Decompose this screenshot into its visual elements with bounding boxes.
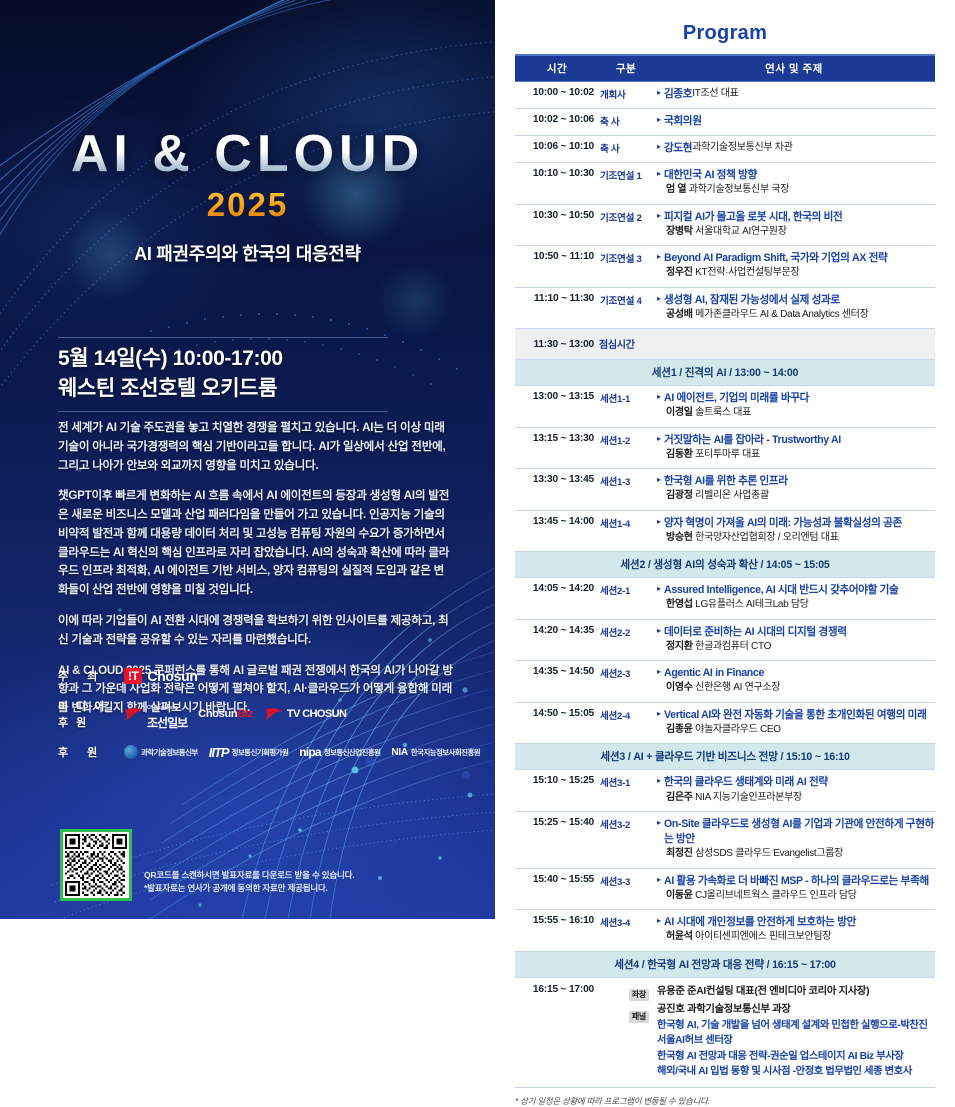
program-row: 13:45 ~ 14:00세션1-4▸양자 혁명이 가져올 AI의 미래: 가능… bbox=[515, 510, 935, 552]
program-row: 14:35 ~ 14:50세션2-3▸Agentic AI in Finance… bbox=[515, 661, 935, 703]
row-topic: 국회의원 bbox=[664, 114, 702, 129]
row-topic: On-Site 클라우드로 생성형 AI를 기업과 기관에 안전하게 구현하는 … bbox=[664, 817, 935, 847]
event-title: AI & CLOUD bbox=[0, 128, 495, 180]
row-speaker-name: 방승현 bbox=[666, 532, 693, 543]
program-row: 14:05 ~ 14:20세션2-1▸Assured Intelligence,… bbox=[515, 578, 935, 620]
bullet-icon: ▸ bbox=[657, 391, 661, 403]
program-table: 시간 구분 연사 및 주제 10:00 ~ 10:02개회사▸김종호 IT조선 … bbox=[515, 54, 935, 1088]
bullet-icon: ▸ bbox=[657, 168, 661, 180]
poster-title-block: AI & CLOUD 2025 AI 패권주의와 한국의 대응전략 bbox=[0, 128, 495, 266]
row-speaker-name: 김종윤 bbox=[666, 724, 693, 735]
row-speaker: 엄 열 과학기술정보통신부 국장 bbox=[657, 183, 935, 198]
row-time: 13:30 ~ 13:45 bbox=[515, 469, 599, 511]
tv-chosun-name: TV CHOSUN bbox=[287, 708, 346, 720]
row-speaker: 이경일 솔트룩스 대표 bbox=[657, 406, 935, 421]
session-banner-label: 세션3 / AI + 클라우드 기반 비즈니스 전망 / 15:10 ~ 16:… bbox=[515, 744, 935, 770]
row-topic: AI 시대에 개인정보를 안전하게 보호하는 방안 bbox=[664, 915, 856, 930]
bullet-icon: ▸ bbox=[657, 915, 661, 927]
intro-paragraph: 챗GPT이후 빠르게 변화하는 AI 흐름 속에서 AI 에이전트의 등장과 생… bbox=[58, 487, 453, 600]
row-time: 13:00 ~ 13:15 bbox=[515, 386, 599, 428]
row-time: 14:35 ~ 14:50 bbox=[515, 661, 599, 703]
program-footnote: * 상기 일정은 상황에 따라 프로그램이 변동될 수 있습니다. bbox=[515, 1088, 935, 1107]
row-topic-line: ▸한국의 클라우드 생태계와 미래 AI 전략 bbox=[657, 775, 935, 790]
program-row: 15:55 ~ 16:10세션3-4▸AI 시대에 개인정보를 안전하게 보호하… bbox=[515, 910, 935, 952]
lunch-label: 점심시간 bbox=[599, 329, 935, 360]
row-topic-line: ▸한국형 AI를 위한 추론 인프라 bbox=[657, 474, 935, 489]
row-category: 세션3-2 bbox=[599, 812, 653, 869]
panel-content: 유용준 준AI컨설팅 대표(전 엔비디아 코리아 지사장)공진호 과학기술정보통… bbox=[653, 977, 935, 1087]
nia-name: 한국지능정보사회진흥원 bbox=[411, 747, 480, 758]
row-topic: 강도현 bbox=[664, 141, 692, 156]
program-row: 10:10 ~ 10:30기조연설 1▸대한민국 AI 정책 방향엄 열 과학기… bbox=[515, 163, 935, 205]
program-row: 10:02 ~ 10:06축 사▸국회의원 bbox=[515, 109, 935, 136]
row-speaker-name: 공성배 bbox=[666, 309, 693, 320]
poster-page: AI & CLOUD 2025 AI 패권주의와 한국의 대응전략 5월 14일… bbox=[0, 0, 955, 919]
logo-chosun-ilbo: ChosunMedia 조선일보 bbox=[124, 696, 187, 732]
iitp-name: 정보통신기획평가원 bbox=[232, 747, 289, 758]
bullet-icon: ▸ bbox=[657, 114, 661, 126]
panel-badges: 좌장패널 bbox=[599, 977, 653, 1087]
row-category: 세션2-3 bbox=[599, 661, 653, 703]
row-topic-line: ▸대한민국 AI 정책 방향 bbox=[657, 168, 935, 183]
event-year: 2025 bbox=[0, 186, 495, 224]
nia-mark: NIA bbox=[391, 747, 407, 758]
logo-it-chosun: !T Chosun bbox=[124, 668, 198, 684]
row-topic: Agentic AI in Finance bbox=[664, 666, 764, 681]
row-topic: 양자 혁명이 가져올 AI의 미래: 가능성과 불확실성의 공존 bbox=[664, 516, 902, 531]
row-topic-line: ▸강도현 과학기술정보통신부 차관 bbox=[657, 141, 935, 156]
row-topic-cell: ▸피지컬 AI가 몰고올 로봇 시대, 한국의 비전장병탁 서울대학교 AI연구… bbox=[653, 204, 935, 246]
row-topic-cell: ▸AI 활용 가속화로 더 바빠진 MSP - 하나의 클라우드로는 부족해이동… bbox=[653, 868, 935, 910]
poster-panel: AI & CLOUD 2025 AI 패권주의와 한국의 대응전략 5월 14일… bbox=[0, 0, 495, 919]
row-topic-cell: ▸거짓말하는 AI를 잡아라 - Trustworthy AI김동환 포티투마루… bbox=[653, 427, 935, 469]
row-topic: 생성형 AI, 잠재된 가능성에서 실제 성과로 bbox=[664, 293, 840, 308]
logo-nia: NIA 한국지능정보사회진흥원 bbox=[391, 747, 480, 758]
panel-chair-text: 유용준 준AI컨설팅 대표(전 엔비디아 코리아 지사장) bbox=[657, 984, 935, 999]
row-topic-cell: ▸김종호 IT조선 대표 bbox=[653, 82, 935, 109]
program-row: 10:06 ~ 10:10축 사▸강도현 과학기술정보통신부 차관 bbox=[515, 136, 935, 163]
row-topic-cell: ▸AI 에이전트, 기업의 미래를 바꾸다이경일 솔트룩스 대표 bbox=[653, 386, 935, 428]
bullet-icon: ▸ bbox=[657, 874, 661, 886]
row-topic-line: ▸Assured Intelligence, AI 시대 반드시 갖추어야할 기… bbox=[657, 583, 935, 598]
row-topic-suffix: IT조선 대표 bbox=[692, 87, 738, 102]
row-time: 10:06 ~ 10:10 bbox=[515, 136, 599, 163]
row-topic-line: ▸AI 시대에 개인정보를 안전하게 보호하는 방안 bbox=[657, 915, 935, 930]
bullet-icon: ▸ bbox=[657, 817, 661, 829]
row-topic-line: ▸On-Site 클라우드로 생성형 AI를 기업과 기관에 안전하게 구현하는… bbox=[657, 817, 935, 847]
row-topic: Vertical AI와 완전 자동화 기술을 통한 초개인화된 여행의 미래 bbox=[664, 708, 926, 723]
row-topic: 데이터로 준비하는 AI 시대의 디지털 경쟁력 bbox=[664, 625, 847, 640]
sponsor-section: 주 최 !T Chosun 미디어후원 bbox=[58, 668, 478, 772]
row-topic-cell: ▸양자 혁명이 가져올 AI의 미래: 가능성과 불확실성의 공존방승현 한국양… bbox=[653, 510, 935, 552]
row-speaker-name: 정우진 bbox=[666, 267, 693, 278]
row-time: 10:10 ~ 10:30 bbox=[515, 163, 599, 205]
row-category: 세션2-2 bbox=[599, 619, 653, 661]
row-speaker-name: 한영섭 bbox=[666, 599, 693, 610]
qr-caption-line1: QR코드를 스캔하시면 발표자료를 다운로드 받을 수 있습니다. bbox=[144, 869, 354, 882]
row-speaker-name: 김광정 bbox=[666, 490, 693, 501]
row-topic-line: ▸양자 혁명이 가져올 AI의 미래: 가능성과 불확실성의 공존 bbox=[657, 516, 935, 531]
row-category: 세션3-3 bbox=[599, 868, 653, 910]
row-category: 기조연설 3 bbox=[599, 246, 653, 288]
logo-msit: 과학기술정보통신부 bbox=[124, 745, 198, 759]
row-topic-line: ▸AI 에이전트, 기업의 미래를 바꾸다 bbox=[657, 391, 935, 406]
row-category: 개회사 bbox=[599, 82, 653, 109]
row-speaker: 김은주 NIA 지능기술인프라본부장 bbox=[657, 791, 935, 806]
row-topic-cell: ▸국회의원 bbox=[653, 109, 935, 136]
bullet-icon: ▸ bbox=[657, 666, 661, 678]
program-table-head: 시간 구분 연사 및 주제 bbox=[515, 55, 935, 82]
row-topic-cell: ▸On-Site 클라우드로 생성형 AI를 기업과 기관에 안전하게 구현하는… bbox=[653, 812, 935, 869]
row-category: 기조연설 1 bbox=[599, 163, 653, 205]
logo-iitp: IITP 정보통신기획평가원 bbox=[209, 745, 289, 760]
row-category: 세션1-2 bbox=[599, 427, 653, 469]
chosun-media-small: ChosunMedia bbox=[147, 705, 178, 711]
row-topic-cell: ▸대한민국 AI 정책 방향엄 열 과학기술정보통신부 국장 bbox=[653, 163, 935, 205]
nipa-name: 정보통신산업진흥원 bbox=[324, 747, 381, 758]
bullet-icon: ▸ bbox=[657, 87, 661, 99]
row-time: 10:50 ~ 11:10 bbox=[515, 246, 599, 288]
bullet-icon: ▸ bbox=[657, 141, 661, 153]
row-time: 15:25 ~ 15:40 bbox=[515, 812, 599, 869]
row-category: 세션1-3 bbox=[599, 469, 653, 511]
row-speaker: 김광정 리벨리온 사업총괄 bbox=[657, 489, 935, 504]
event-venue: 웨스틴 조선호텔 오키드룸 bbox=[58, 374, 388, 404]
row-topic-cell: ▸강도현 과학기술정보통신부 차관 bbox=[653, 136, 935, 163]
session-banner: 세션1 / 진격의 AI / 13:00 ~ 14:00 bbox=[515, 360, 935, 386]
row-speaker: 최정진 삼성SDS 클라우드 Evangelist그룹장 bbox=[657, 847, 935, 862]
row-speaker: 한영섭 LG유플러스 AI테크Lab 담당 bbox=[657, 598, 935, 613]
row-category: 축 사 bbox=[599, 136, 653, 163]
row-category: 기조연설 2 bbox=[599, 204, 653, 246]
program-row: 13:30 ~ 13:45세션1-3▸한국형 AI를 위한 추론 인프라김광정 … bbox=[515, 469, 935, 511]
row-speaker: 방승현 한국양자산업협회장 / 오리엔텀 대표 bbox=[657, 531, 935, 546]
row-time: 15:10 ~ 15:25 bbox=[515, 770, 599, 812]
divider-bottom bbox=[58, 411, 388, 412]
row-category: 세션3-1 bbox=[599, 770, 653, 812]
panel-badge: 패널 bbox=[629, 1011, 649, 1023]
it-chosun-mark: !T bbox=[124, 668, 142, 684]
row-time: 10:02 ~ 10:06 bbox=[515, 109, 599, 136]
row-time: 14:05 ~ 14:20 bbox=[515, 578, 599, 620]
sponsor-row-host: 주 최 !T Chosun bbox=[58, 668, 478, 684]
row-topic-cell: ▸생성형 AI, 잠재된 가능성에서 실제 성과로공성배 메가존클라우드 AI … bbox=[653, 287, 935, 329]
row-topic: 피지컬 AI가 몰고올 로봇 시대, 한국의 비전 bbox=[664, 210, 842, 225]
row-topic-cell: ▸Vertical AI와 완전 자동화 기술을 통한 초개인화된 여행의 미래… bbox=[653, 702, 935, 744]
panel-item: 한국형 AI 전망과 대응 전략-권순일 업스테이지 AI Biz 부사장 bbox=[657, 1049, 935, 1065]
session-banner-label: 세션4 / 한국형 AI 전망과 대응 전략 / 16:15 ~ 17:00 bbox=[515, 951, 935, 977]
row-speaker-name: 장병탁 bbox=[666, 226, 693, 237]
bullet-icon: ▸ bbox=[657, 474, 661, 486]
program-panel: Program 시간 구분 연사 및 주제 10:00 ~ 10:02개회사▸김… bbox=[495, 0, 955, 919]
chosun-ilbo-name: 조선일보 bbox=[147, 716, 187, 730]
chosun-swoosh-icon bbox=[124, 707, 144, 721]
row-topic: 대한민국 AI 정책 방향 bbox=[664, 168, 757, 183]
row-topic-line: ▸Beyond AI Paradigm Shift, 국가와 기업의 AX 전략 bbox=[657, 251, 935, 266]
program-row: 10:00 ~ 10:02개회사▸김종호 IT조선 대표 bbox=[515, 82, 935, 109]
row-time: 10:00 ~ 10:02 bbox=[515, 82, 599, 109]
row-topic: 김종호 bbox=[664, 87, 692, 102]
intro-paragraph: 이에 따라 기업들이 AI 전환 시대에 경쟁력을 확보하기 위한 인사이트를 … bbox=[58, 612, 453, 650]
msit-name: 과학기술정보통신부 bbox=[141, 747, 198, 758]
bullet-icon: ▸ bbox=[657, 433, 661, 445]
row-speaker-name: 이영수 bbox=[666, 682, 693, 693]
program-title: Program bbox=[515, 0, 935, 54]
row-speaker: 정지환 한글과컴퓨터 CTO bbox=[657, 640, 935, 655]
logo-chosun-biz: ChosunBiz bbox=[198, 708, 253, 720]
bullet-icon: ▸ bbox=[657, 293, 661, 305]
sponsor-label: 주 최 bbox=[58, 668, 124, 684]
row-topic-line: ▸AI 활용 가속화로 더 바빠진 MSP - 하나의 클라우드로는 부족해 bbox=[657, 874, 935, 889]
row-category: 기조연설 4 bbox=[599, 287, 653, 329]
logo-tv-chosun: TV CHOSUN bbox=[264, 707, 346, 721]
sponsor-row-media: 미디어후원 ChosunMedia 조선일보 bbox=[58, 696, 478, 732]
row-speaker: 이동윤 CJ올리브네트웍스 클라우드 인프라 담당 bbox=[657, 889, 935, 904]
row-topic: 거짓말하는 AI를 잡아라 - Trustworthy AI bbox=[664, 433, 841, 448]
program-row: 14:20 ~ 14:35세션2-2▸데이터로 준비하는 AI 시대의 디지털 … bbox=[515, 619, 935, 661]
program-row: 14:50 ~ 15:05세션2-4▸Vertical AI와 완전 자동화 기… bbox=[515, 702, 935, 744]
row-speaker: 김종윤 야놀자클라우드 CEO bbox=[657, 723, 935, 738]
row-topic-line: ▸국회의원 bbox=[657, 114, 935, 129]
row-time: 10:30 ~ 10:50 bbox=[515, 204, 599, 246]
row-topic-cell: ▸Beyond AI Paradigm Shift, 국가와 기업의 AX 전략… bbox=[653, 246, 935, 288]
qr-caption: QR코드를 스캔하시면 발표자료를 다운로드 받을 수 있습니다. *발표자료는… bbox=[144, 869, 354, 901]
sponsor-label: 후 원 bbox=[58, 744, 124, 760]
bullet-icon: ▸ bbox=[657, 625, 661, 637]
row-time: 15:40 ~ 15:55 bbox=[515, 868, 599, 910]
program-row: 10:30 ~ 10:50기조연설 2▸피지컬 AI가 몰고올 로봇 시대, 한… bbox=[515, 204, 935, 246]
row-topic: Beyond AI Paradigm Shift, 국가와 기업의 AX 전략 bbox=[664, 251, 887, 266]
row-topic: Assured Intelligence, AI 시대 반드시 갖추어야할 기술 bbox=[664, 583, 898, 598]
panel-item: 한국형 AI, 기술 개발을 넘어 생태계 설계와 민첩한 실행으로-박찬진 서… bbox=[657, 1018, 935, 1049]
row-topic-line: ▸생성형 AI, 잠재된 가능성에서 실제 성과로 bbox=[657, 293, 935, 308]
row-speaker-name: 이경일 bbox=[666, 407, 693, 418]
row-topic-line: ▸데이터로 준비하는 AI 시대의 디지털 경쟁력 bbox=[657, 625, 935, 640]
bullet-icon: ▸ bbox=[657, 708, 661, 720]
sponsor-row-support: 후 원 과학기술정보통신부 IITP 정보통신기획평가원 nipa 정보통신산업… bbox=[58, 744, 478, 760]
logo-nipa: nipa 정보통신산업진흥원 bbox=[299, 745, 380, 759]
session-banner-label: 세션1 / 진격의 AI / 13:00 ~ 14:00 bbox=[515, 360, 935, 386]
lunch-time: 11:30 ~ 13:00 bbox=[515, 329, 599, 360]
row-time: 13:45 ~ 14:00 bbox=[515, 510, 599, 552]
sponsor-label: 미디어후원 bbox=[58, 698, 124, 730]
tv-chosun-swoosh-icon bbox=[264, 707, 284, 721]
bullet-icon: ▸ bbox=[657, 251, 661, 263]
chosun-biz-name: Chosun bbox=[198, 708, 237, 720]
it-chosun-name: Chosun bbox=[147, 668, 197, 684]
program-row: 15:10 ~ 15:25세션3-1▸한국의 클라우드 생태계와 미래 AI 전… bbox=[515, 770, 935, 812]
date-venue-block: 5월 14일(수) 10:00-17:00 웨스틴 조선호텔 오키드룸 bbox=[58, 337, 388, 412]
iitp-mark: IITP bbox=[209, 745, 229, 760]
msit-emblem-icon bbox=[124, 745, 138, 759]
program-table-body: 10:00 ~ 10:02개회사▸김종호 IT조선 대표10:02 ~ 10:0… bbox=[515, 82, 935, 1088]
program-row: 13:15 ~ 13:30세션1-2▸거짓말하는 AI를 잡아라 - Trust… bbox=[515, 427, 935, 469]
row-topic-cell: ▸AI 시대에 개인정보를 안전하게 보호하는 방안허윤석 아이티센피엔에스 핀… bbox=[653, 910, 935, 952]
row-topic-suffix: 과학기술정보통신부 차관 bbox=[692, 141, 792, 156]
program-row: 15:40 ~ 15:55세션3-3▸AI 활용 가속화로 더 바빠진 MSP … bbox=[515, 868, 935, 910]
row-time: 13:15 ~ 13:30 bbox=[515, 427, 599, 469]
row-category: 축 사 bbox=[599, 109, 653, 136]
session-banner: 세션3 / AI + 클라우드 기반 비즈니스 전망 / 15:10 ~ 16:… bbox=[515, 744, 935, 770]
column-header-kind: 구분 bbox=[599, 55, 653, 82]
row-speaker-name: 김동환 bbox=[666, 449, 693, 460]
row-topic: AI 에이전트, 기업의 미래를 바꾸다 bbox=[664, 391, 809, 406]
row-topic-line: ▸거짓말하는 AI를 잡아라 - Trustworthy AI bbox=[657, 433, 935, 448]
row-speaker: 장병탁 서울대학교 AI연구원장 bbox=[657, 225, 935, 240]
row-speaker: 허윤석 아이티센피엔에스 핀테크보안팀장 bbox=[657, 930, 935, 945]
row-speaker-name: 김은주 bbox=[666, 792, 693, 803]
row-topic-line: ▸Vertical AI와 완전 자동화 기술을 통한 초개인화된 여행의 미래 bbox=[657, 708, 935, 723]
row-speaker-name: 정지환 bbox=[666, 641, 693, 652]
nipa-mark: nipa bbox=[299, 745, 320, 759]
program-row: 13:00 ~ 13:15세션1-1▸AI 에이전트, 기업의 미래를 바꾸다이… bbox=[515, 386, 935, 428]
row-topic-cell: ▸Assured Intelligence, AI 시대 반드시 갖추어야할 기… bbox=[653, 578, 935, 620]
event-date: 5월 14일(수) 10:00-17:00 bbox=[58, 344, 388, 374]
session-banner-label: 세션2 / 생성형 AI의 성숙과 확산 / 14:05 ~ 15:05 bbox=[515, 552, 935, 578]
bullet-icon: ▸ bbox=[657, 775, 661, 787]
qr-code[interactable] bbox=[60, 829, 132, 901]
panel-time: 16:15 ~ 17:00 bbox=[515, 977, 599, 1087]
row-topic: 한국의 클라우드 생태계와 미래 AI 전략 bbox=[664, 775, 828, 790]
row-category: 세션2-1 bbox=[599, 578, 653, 620]
chosun-ilbo-text: ChosunMedia 조선일보 bbox=[147, 696, 187, 732]
row-speaker-name: 이동윤 bbox=[666, 890, 693, 901]
panel-lead-text: 공진호 과학기술정보통신부 과장 bbox=[657, 1002, 935, 1017]
qr-section: QR코드를 스캔하시면 발표자료를 다운로드 받을 수 있습니다. *발표자료는… bbox=[60, 829, 354, 901]
row-time: 14:50 ~ 15:05 bbox=[515, 702, 599, 744]
chair-badge: 좌장 bbox=[629, 989, 649, 1001]
row-speaker: 공성배 메가존클라우드 AI & Data Analytics 센터장 bbox=[657, 308, 935, 323]
panel-item: 해외/국내 AI 입법 동향 및 시사점 -안정호 법무법인 세종 변호사 bbox=[657, 1064, 935, 1080]
bullet-icon: ▸ bbox=[657, 583, 661, 595]
bullet-icon: ▸ bbox=[657, 516, 661, 528]
row-category: 세션3-4 bbox=[599, 910, 653, 952]
program-row: 11:10 ~ 11:30기조연설 4▸생성형 AI, 잠재된 가능성에서 실제… bbox=[515, 287, 935, 329]
row-speaker-name: 최정진 bbox=[666, 848, 693, 859]
row-speaker-name: 허윤석 bbox=[666, 931, 693, 942]
row-category: 세션1-1 bbox=[599, 386, 653, 428]
intro-paragraph: 전 세계가 AI 기술 주도권을 놓고 치열한 경쟁을 펼치고 있습니다. AI… bbox=[58, 419, 453, 475]
session-banner: 세션4 / 한국형 AI 전망과 대응 전략 / 16:15 ~ 17:00 bbox=[515, 951, 935, 977]
session-banner: 세션2 / 생성형 AI의 성숙과 확산 / 14:05 ~ 15:05 bbox=[515, 552, 935, 578]
row-topic-cell: ▸Agentic AI in Finance이영수 신한은행 AI 연구소장 bbox=[653, 661, 935, 703]
row-topic: AI 활용 가속화로 더 바빠진 MSP - 하나의 클라우드로는 부족해 bbox=[664, 874, 929, 889]
qr-caption-line2: *발표자료는 연사가 공개에 동의한 자료만 제공됩니다. bbox=[144, 882, 354, 895]
column-header-time: 시간 bbox=[515, 55, 599, 82]
row-category: 세션1-4 bbox=[599, 510, 653, 552]
row-topic: 한국형 AI를 위한 추론 인프라 bbox=[664, 474, 788, 489]
row-topic-line: ▸피지컬 AI가 몰고올 로봇 시대, 한국의 비전 bbox=[657, 210, 935, 225]
row-topic-line: ▸Agentic AI in Finance bbox=[657, 666, 935, 681]
row-time: 11:10 ~ 11:30 bbox=[515, 287, 599, 329]
row-time: 14:20 ~ 14:35 bbox=[515, 619, 599, 661]
row-time: 15:55 ~ 16:10 bbox=[515, 910, 599, 952]
row-category: 세션2-4 bbox=[599, 702, 653, 744]
chosun-biz-accent: Biz bbox=[237, 708, 253, 720]
row-topic-cell: ▸한국형 AI를 위한 추론 인프라김광정 리벨리온 사업총괄 bbox=[653, 469, 935, 511]
row-topic-cell: ▸한국의 클라우드 생태계와 미래 AI 전략김은주 NIA 지능기술인프라본부… bbox=[653, 770, 935, 812]
row-topic-cell: ▸데이터로 준비하는 AI 시대의 디지털 경쟁력정지환 한글과컴퓨터 CTO bbox=[653, 619, 935, 661]
row-topic-line: ▸김종호 IT조선 대표 bbox=[657, 87, 935, 102]
row-speaker: 김동환 포티투마루 대표 bbox=[657, 448, 935, 463]
bullet-icon: ▸ bbox=[657, 210, 661, 222]
row-speaker: 이영수 신한은행 AI 연구소장 bbox=[657, 681, 935, 696]
row-speaker: 정우진 KT전략·사업컨설팅부문장 bbox=[657, 266, 935, 281]
lunch-row: 11:30 ~ 13:00점심시간 bbox=[515, 329, 935, 360]
event-subtitle: AI 패권주의와 한국의 대응전략 bbox=[0, 240, 495, 266]
panel-row: 16:15 ~ 17:00좌장패널유용준 준AI컨설팅 대표(전 엔비디아 코리… bbox=[515, 977, 935, 1087]
program-row: 15:25 ~ 15:40세션3-2▸On-Site 클라우드로 생성형 AI를… bbox=[515, 812, 935, 869]
column-header-topic: 연사 및 주제 bbox=[653, 55, 935, 82]
program-row: 10:50 ~ 11:10기조연설 3▸Beyond AI Paradigm S… bbox=[515, 246, 935, 288]
row-speaker-name: 엄 열 bbox=[666, 184, 686, 195]
